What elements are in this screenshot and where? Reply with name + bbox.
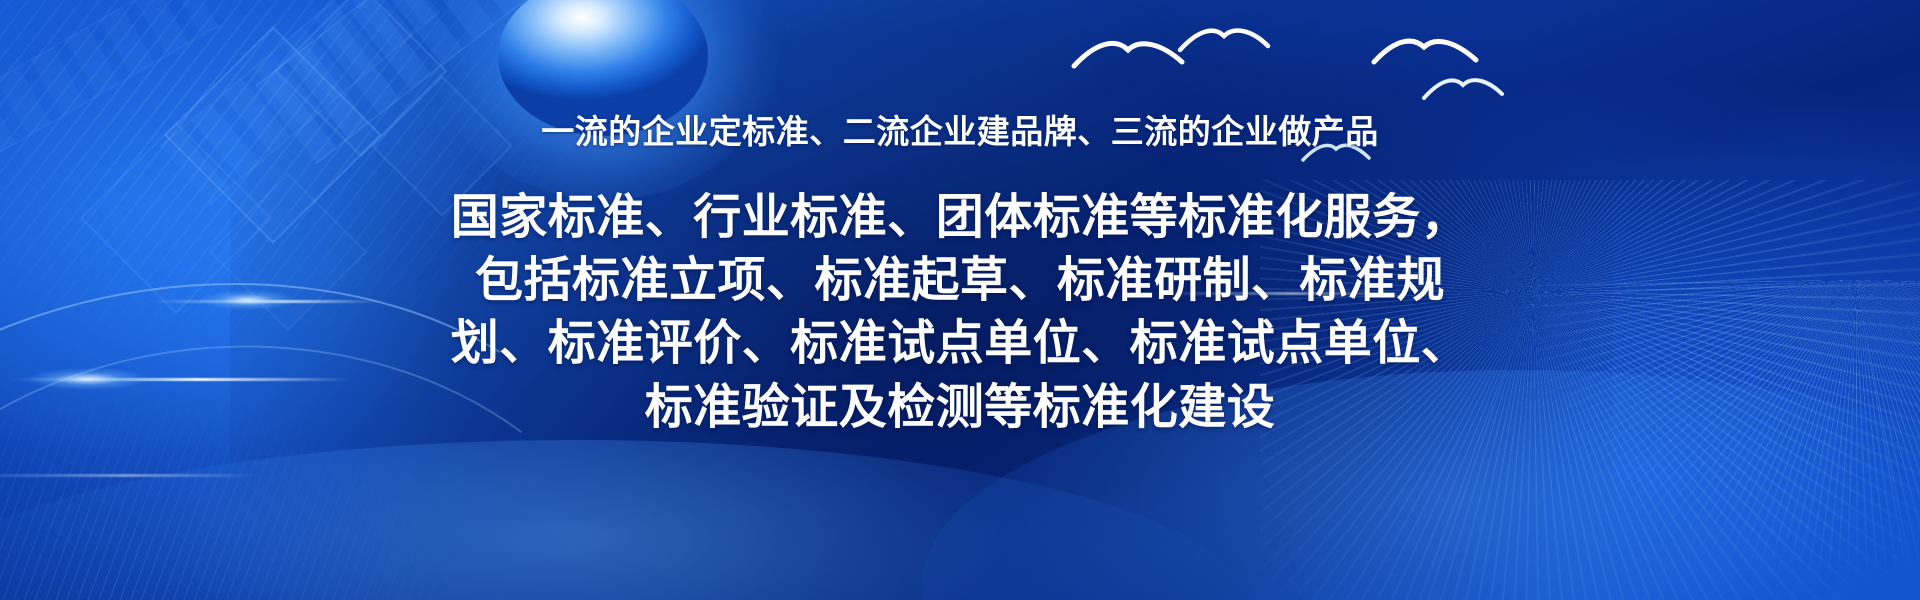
light-streak-glow-1 <box>28 368 148 390</box>
light-streak-4 <box>0 474 260 477</box>
seagull-icon-1 <box>1070 36 1190 76</box>
light-streak-glow-2 <box>200 290 296 310</box>
light-streak-3 <box>1150 292 1410 295</box>
seagull-icon-4 <box>1420 74 1506 106</box>
seagull-icon-5 <box>1300 140 1372 168</box>
seagull-icon-2 <box>1176 24 1272 58</box>
seagull-icon-3 <box>1370 34 1480 74</box>
promo-banner: 一流的企业定标准、二流企业建品牌、三流的企业做产品 国家标准、行业标准、团体标准… <box>0 0 1920 600</box>
